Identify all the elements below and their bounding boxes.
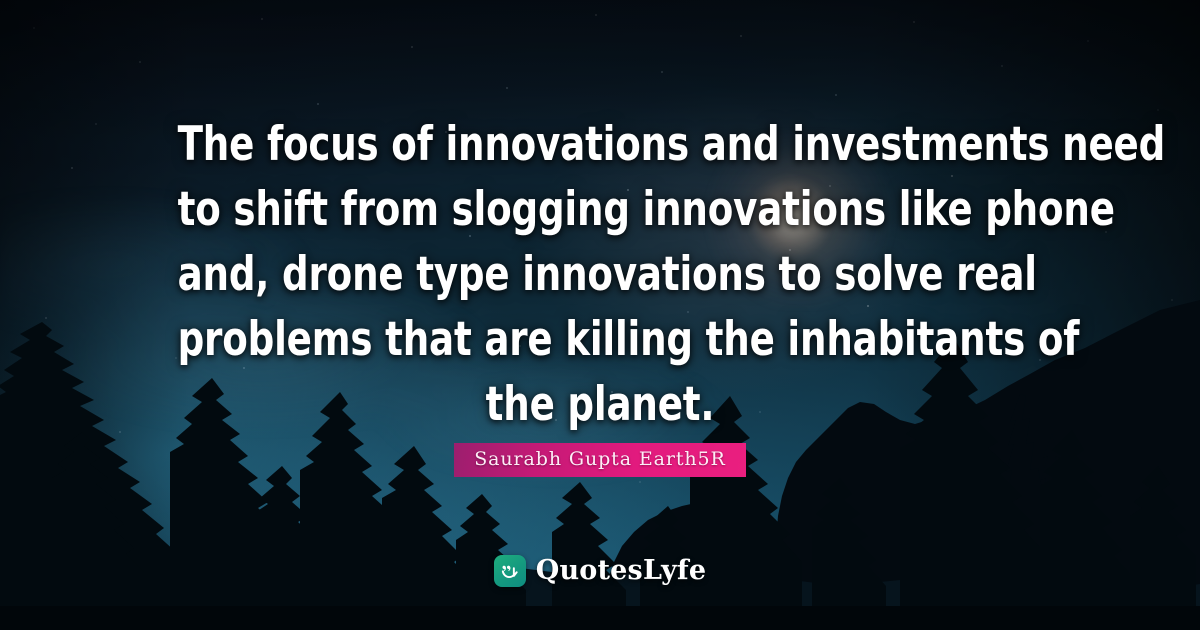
quote-line-4: problems that are killing the inhabitant… — [178, 307, 1023, 372]
quote-line-2: to shift from slogging innovations like … — [178, 177, 1023, 242]
author-badge[interactable]: Saurabh Gupta Earth5R — [454, 443, 745, 477]
brand-name: QuotesLyfe — [536, 556, 707, 586]
quote-smiley-icon — [494, 555, 526, 587]
quote-text: The focus of innovations and investments… — [0, 112, 1200, 437]
brand-watermark[interactable]: QuotesLyfe — [0, 555, 1200, 587]
quote-card: The focus of innovations and investments… — [0, 0, 1200, 630]
quote-line-5: the planet. — [178, 372, 1023, 437]
quote-line-3: and, drone type innovations to solve rea… — [178, 242, 1023, 307]
ground-band — [0, 606, 1200, 630]
quote-line-1: The focus of innovations and investments… — [178, 112, 1023, 177]
author-attribution: Saurabh Gupta Earth5R — [0, 443, 1200, 477]
